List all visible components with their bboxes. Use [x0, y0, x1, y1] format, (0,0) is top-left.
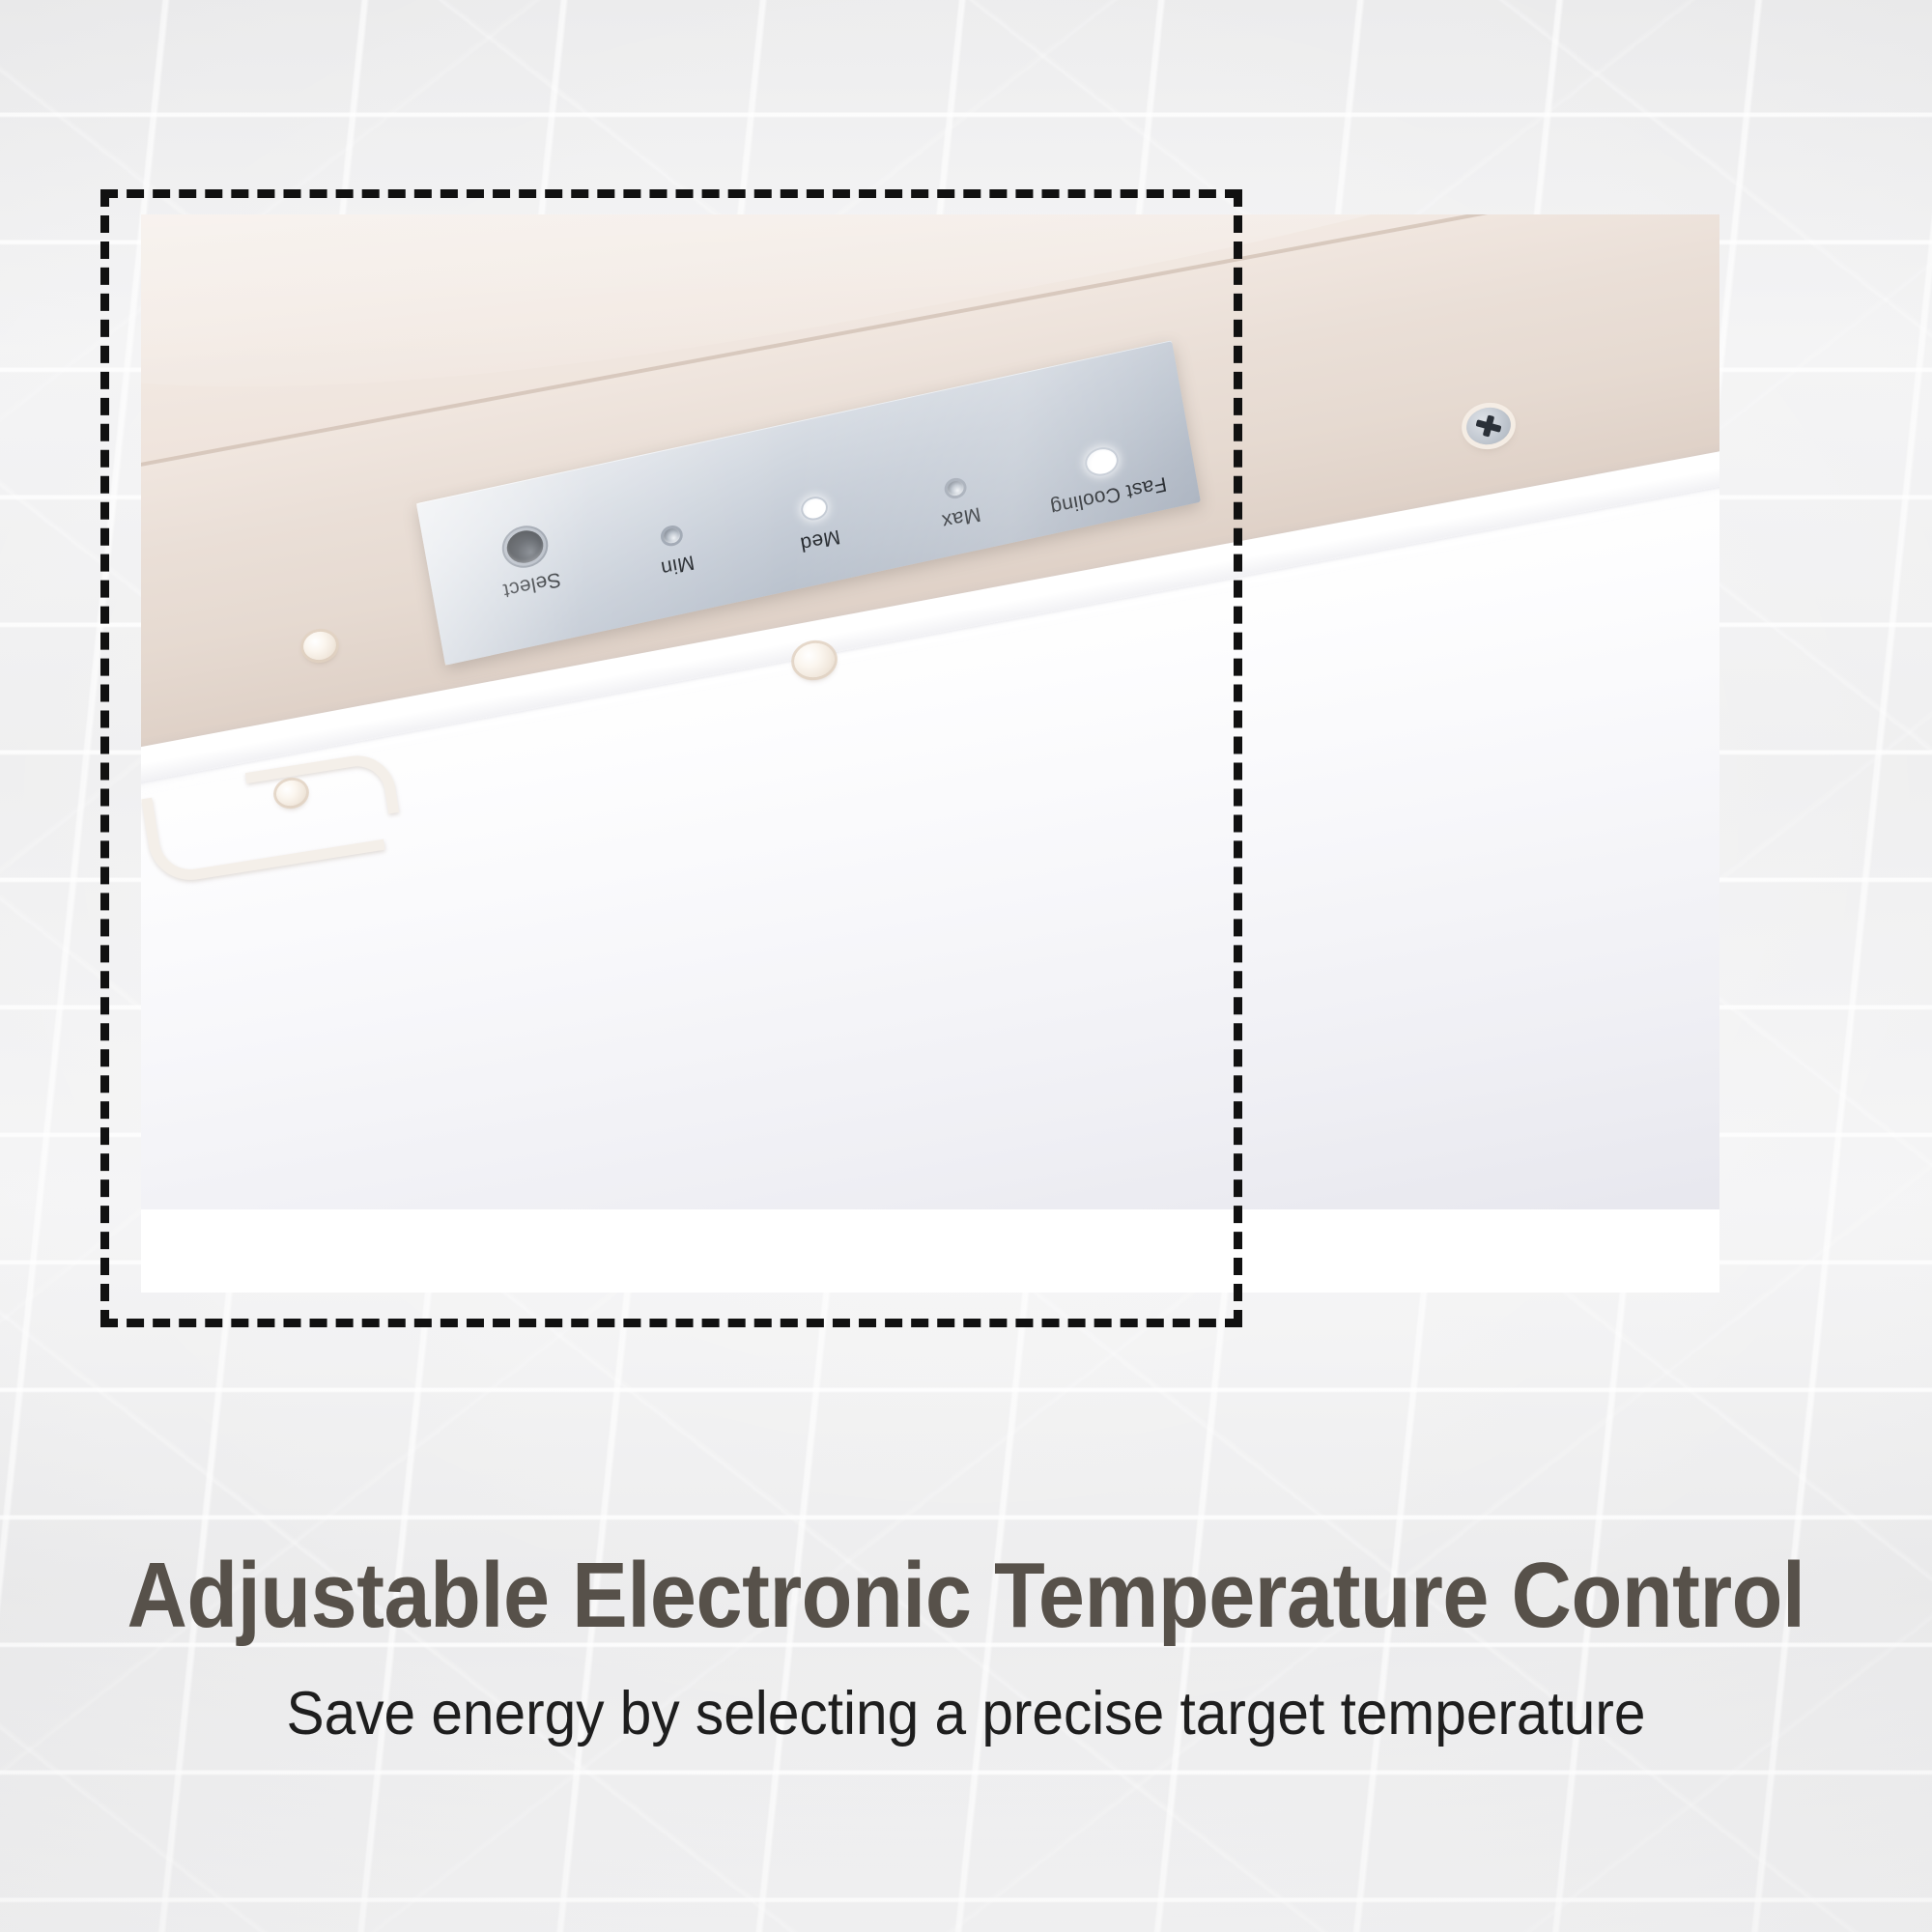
fast-cooling-led-icon: [1086, 446, 1120, 476]
min-led-icon: [663, 526, 681, 544]
control-label-max: Max: [889, 493, 1034, 543]
control-fast-cooling[interactable]: Fast Cooling: [1020, 432, 1191, 523]
control-level-max[interactable]: Max: [884, 466, 1034, 543]
control-label-min: Min: [605, 540, 750, 590]
control-level-min[interactable]: Min: [600, 513, 750, 590]
control-level-med[interactable]: Med: [742, 484, 893, 566]
max-led-icon: [947, 479, 965, 497]
med-led-icon: [802, 497, 828, 521]
control-select-button[interactable]: Select: [451, 516, 604, 611]
control-label-med: Med: [748, 515, 893, 565]
subheadline-text: Save energy by selecting a precise targe…: [68, 1681, 1864, 1747]
headline-text: Adjustable Electronic Temperature Contro…: [97, 1546, 1835, 1646]
select-push-button-icon[interactable]: [504, 527, 546, 567]
promo-image-root: Select Min Med Max Fast Cooling: [0, 0, 1932, 1932]
photo-bottom-margin: [141, 1209, 1719, 1293]
control-label-select: Select: [459, 559, 604, 610]
product-photo: Select Min Med Max Fast Cooling: [141, 214, 1719, 1293]
caption-block: Adjustable Electronic Temperature Contro…: [0, 1546, 1932, 1747]
